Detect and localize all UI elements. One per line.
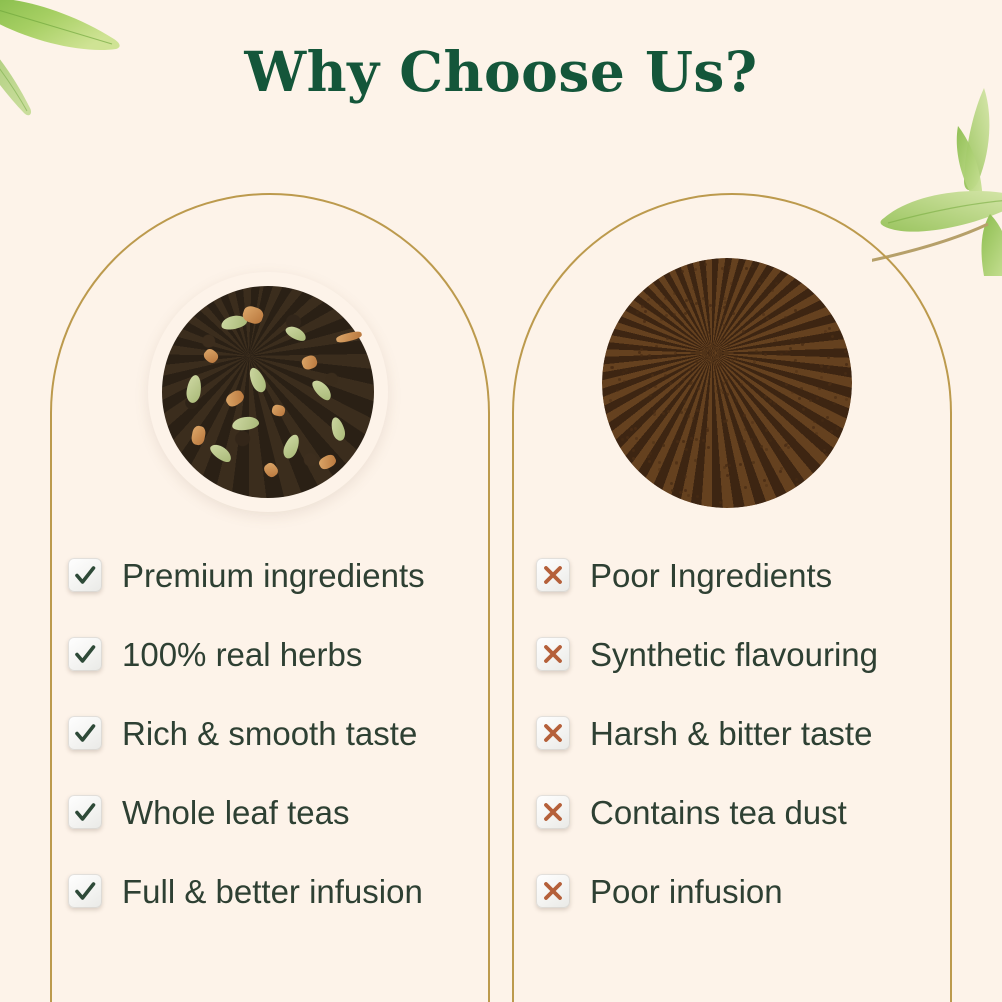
list-item: Harsh & bitter taste bbox=[536, 710, 956, 756]
list-item-label: Rich & smooth taste bbox=[122, 717, 417, 750]
list-item: Full & better infusion bbox=[68, 868, 488, 914]
list-item: 100% real herbs bbox=[68, 631, 488, 677]
list-item-label: Poor infusion bbox=[590, 875, 783, 908]
list-item: Poor infusion bbox=[536, 868, 956, 914]
list-item-label: Contains tea dust bbox=[590, 796, 847, 829]
check-icon bbox=[68, 637, 102, 671]
list-item-label: Harsh & bitter taste bbox=[590, 717, 872, 750]
list-item: Poor Ingredients bbox=[536, 552, 956, 598]
why-choose-us-comparison-graphic: Why Choose Us? bbox=[0, 0, 1002, 1002]
list-item: Contains tea dust bbox=[536, 789, 956, 835]
cross-icon bbox=[536, 558, 570, 592]
page-title: Why Choose Us? bbox=[0, 42, 1002, 103]
check-icon bbox=[68, 558, 102, 592]
list-item: Rich & smooth taste bbox=[68, 710, 488, 756]
list-item-label: Synthetic flavouring bbox=[590, 638, 878, 671]
pros-feature-list: Premium ingredients 100% real herbs Rich… bbox=[68, 552, 488, 947]
cons-feature-list: Poor Ingredients Synthetic flavouring Ha… bbox=[536, 552, 956, 947]
tea-granules bbox=[162, 286, 374, 498]
list-item: Premium ingredients bbox=[68, 552, 488, 598]
list-item-label: Premium ingredients bbox=[122, 559, 425, 592]
list-item: Synthetic flavouring bbox=[536, 631, 956, 677]
check-icon bbox=[68, 874, 102, 908]
premium-tea-bowl-image bbox=[148, 272, 388, 512]
list-item-label: 100% real herbs bbox=[122, 638, 362, 671]
check-icon bbox=[68, 795, 102, 829]
cross-icon bbox=[536, 795, 570, 829]
cross-icon bbox=[536, 716, 570, 750]
list-item-label: Full & better infusion bbox=[122, 875, 423, 908]
list-item: Whole leaf teas bbox=[68, 789, 488, 835]
list-item-label: Whole leaf teas bbox=[122, 796, 349, 829]
cross-icon bbox=[536, 637, 570, 671]
tea-dust-image bbox=[602, 258, 852, 508]
check-icon bbox=[68, 716, 102, 750]
list-item-label: Poor Ingredients bbox=[590, 559, 832, 592]
cross-icon bbox=[536, 874, 570, 908]
tea-leaf-sprig-icon bbox=[872, 86, 1002, 281]
